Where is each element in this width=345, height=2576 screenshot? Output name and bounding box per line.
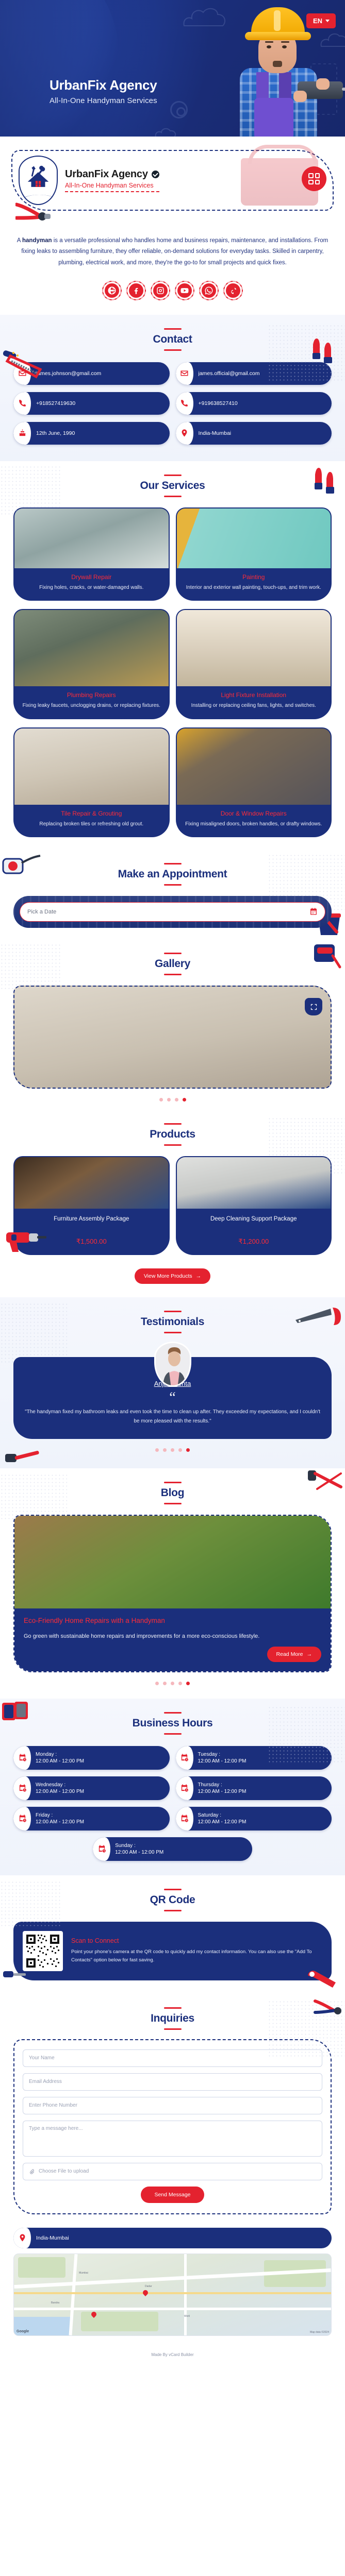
business-hours-row-friday: Friday : 12:00 AM - 12:00 PM <box>13 1807 170 1831</box>
business-hours-time: 12:00 AM - 12:00 PM <box>198 1789 247 1794</box>
date-placeholder: Pick a Date <box>27 909 56 915</box>
paperclip-icon <box>29 2168 35 2175</box>
blog-post-image <box>14 1516 331 1608</box>
about-text: is a versatile professional who handles … <box>21 238 328 266</box>
business-hours-day: Sunday : <box>115 1843 163 1849</box>
title-rule-top <box>164 474 182 476</box>
dot-grid-decoration <box>268 1706 345 1762</box>
birthday-cake-icon <box>13 422 31 445</box>
file-placeholder: Choose File to upload <box>39 2168 89 2174</box>
about-lead: A <box>17 238 22 244</box>
service-image-light-fixture <box>177 610 331 686</box>
map-embed[interactable]: Mumbai Dadar Bandra Worli Google Map dat… <box>13 2253 332 2336</box>
carousel-dot[interactable] <box>178 1448 182 1452</box>
company-name-block: UrbanFix Agency All-In-One Handyman Serv… <box>65 168 159 192</box>
work-gloves-decoration <box>309 335 341 367</box>
title-rule-bottom <box>164 2028 182 2030</box>
map-location-pill[interactable]: India-Mumbai <box>13 2228 332 2248</box>
title-rule-bottom <box>164 884 182 886</box>
carousel-dot[interactable] <box>171 1682 174 1685</box>
title-rule-top <box>164 1482 182 1483</box>
title-rule-top <box>164 863 182 865</box>
service-desc: Interior and exterior wall painting, tou… <box>182 584 326 592</box>
business-hours-day: Friday : <box>36 1812 84 1818</box>
service-title: Plumbing Repairs <box>20 691 163 699</box>
phone-placeholder: Enter Phone Number <box>29 2103 77 2108</box>
carousel-dot[interactable] <box>171 1448 174 1452</box>
products-grid: Furniture Assembly Package ₹1,500.00 Dee… <box>0 1146 345 1258</box>
service-card[interactable]: Painting Interior and exterior wall pain… <box>176 507 332 601</box>
social-link-facebook[interactable] <box>126 281 146 300</box>
appointment-date-input[interactable]: Pick a Date <box>20 902 325 922</box>
carousel-dot[interactable] <box>175 1098 178 1101</box>
service-card[interactable]: Drywall Repair Fixing holes, cracks, or … <box>13 507 170 601</box>
business-hours-day: Tuesday : <box>198 1752 247 1757</box>
file-upload-input[interactable]: Choose File to upload <box>23 2163 322 2180</box>
contact-item-birthday[interactable]: 12th June, 1990 <box>13 422 170 445</box>
appointment-date-wrapper: Pick a Date <box>13 896 332 928</box>
gallery-image-card[interactable] <box>13 986 332 1089</box>
arrow-right-icon: → <box>307 1651 313 1657</box>
wrench-decoration <box>305 1966 343 1990</box>
website-icon <box>107 286 117 295</box>
email-input[interactable]: Email Address <box>23 2073 322 2091</box>
title-rule-bottom <box>164 974 182 975</box>
service-title: Painting <box>182 573 326 581</box>
business-hours-section: Business Hours Monday : 12:00 AM - 12:00… <box>0 1699 345 1875</box>
service-card[interactable]: Plumbing Repairs Fixing leaky faucets, u… <box>13 609 170 719</box>
social-link-tiktok[interactable] <box>223 281 243 300</box>
calendar-clock-icon <box>176 1746 193 1770</box>
service-image-drywall <box>14 509 169 568</box>
pliers-decoration <box>313 1998 344 2021</box>
title-rule-top <box>164 953 182 954</box>
business-hours-time: 12:00 AM - 12:00 PM <box>198 1819 247 1825</box>
language-label: EN <box>313 17 322 25</box>
hero-gradient-overlay <box>0 0 345 137</box>
map-label: Dadar <box>145 2285 152 2288</box>
business-hours-day: Wednesday : <box>36 1782 84 1788</box>
calendar-clock-icon <box>13 1746 31 1770</box>
business-hours-time: 12:00 AM - 12:00 PM <box>198 1758 247 1764</box>
pliers-decoration <box>15 202 52 227</box>
testimonial-text: "The handyman fixed my bathroom leaks an… <box>25 1408 320 1426</box>
contact-value: +919638527410 <box>199 400 238 406</box>
business-hours-time: 12:00 AM - 12:00 PM <box>115 1850 163 1855</box>
title-rule-top <box>164 1123 182 1125</box>
service-card[interactable]: Light Fixture Installation Installing or… <box>176 609 332 719</box>
qr-code-section: QR Code <box>0 1875 345 1994</box>
product-image-furniture <box>14 1157 169 1209</box>
business-hours-row-saturday: Saturday : 12:00 AM - 12:00 PM <box>176 1807 332 1831</box>
about-bold-word: handyman <box>22 238 52 244</box>
profile-card: UrbanFix Agency All-In-One Handyman Serv… <box>11 150 334 211</box>
business-hours-row-sunday: Sunday : 12:00 AM - 12:00 PM <box>93 1837 252 1861</box>
instagram-icon <box>156 286 165 295</box>
hero-subtitle: All-In-One Handyman Services <box>50 96 157 105</box>
contact-item-location[interactable]: India-Mumbai <box>176 422 332 445</box>
company-logo <box>19 156 58 205</box>
business-hours-row-thursday: Thursday : 12:00 AM - 12:00 PM <box>176 1776 332 1800</box>
carousel-dot[interactable] <box>167 1098 171 1101</box>
blog-carousel-dots[interactable] <box>0 1672 345 1688</box>
carousel-dot[interactable] <box>178 1682 182 1685</box>
map-location-label: India-Mumbai <box>36 2235 69 2241</box>
blog-post-card[interactable]: Eco-Friendly Home Repairs with a Handyma… <box>13 1515 332 1672</box>
carousel-dot-active[interactable] <box>183 1098 186 1101</box>
inquiries-section: Inquiries Your Name Email Address Enter … <box>0 1994 345 2228</box>
footer-credit: Made By vCard Builder <box>0 2345 345 2366</box>
gallery-section: Gallery <box>0 939 345 1110</box>
send-message-button[interactable]: Send Message <box>141 2187 204 2203</box>
map-attribution: Map data ©2024 <box>310 2331 329 2334</box>
map-label: Mumbai <box>79 2272 88 2275</box>
map-label: Bandra <box>51 2301 59 2304</box>
email-icon <box>176 362 193 385</box>
service-title: Tile Repair & Grouting <box>20 810 163 817</box>
calendar-clock-icon <box>176 1807 193 1831</box>
phone-icon <box>176 392 193 415</box>
verified-badge-icon <box>152 171 159 178</box>
read-more-button[interactable]: Read More → <box>267 1647 321 1662</box>
service-desc: Fixing misaligned doors, broken handles,… <box>182 820 326 828</box>
phone-input[interactable]: Enter Phone Number <box>23 2097 322 2114</box>
service-image-tile <box>14 728 169 805</box>
read-more-label: Read More <box>276 1651 303 1657</box>
service-title: Light Fixture Installation <box>182 691 326 699</box>
product-image-cleaning <box>177 1157 331 1209</box>
title-rule-top <box>164 328 182 330</box>
message-placeholder: Type a message here... <box>29 2126 83 2131</box>
calendar-icon[interactable] <box>309 907 318 917</box>
paint-roller-decoration <box>310 941 342 973</box>
testimonial-slide: Anjali Mehta “ "The handyman fixed my ba… <box>0 1333 345 1439</box>
title-rule-top <box>164 2007 182 2009</box>
service-image-door-window <box>177 728 331 805</box>
social-link-whatsapp[interactable] <box>199 281 219 300</box>
map-label: Worli <box>184 2315 190 2318</box>
service-card[interactable]: Tile Repair & Grouting Replacing broken … <box>13 727 170 838</box>
social-links-row <box>0 278 345 315</box>
gloves-decoration <box>310 464 343 500</box>
qr-description: Point your phone's camera at the QR code… <box>71 1948 322 1964</box>
calendar-clock-icon <box>176 1776 193 1800</box>
business-hours-row-monday: Monday : 12:00 AM - 12:00 PM <box>13 1746 170 1770</box>
whatsapp-icon <box>204 286 213 295</box>
tiktok-icon <box>228 286 238 295</box>
screwdriver-decoration <box>2 1964 29 1985</box>
contact-item-phone-1[interactable]: +918527419630 <box>13 392 170 415</box>
calendar-clock-icon <box>13 1776 31 1800</box>
service-desc: Fixing leaky faucets, unclogging drains,… <box>20 702 163 710</box>
product-card[interactable]: Deep Cleaning Support Package ₹1,200.00 <box>176 1156 332 1255</box>
qr-code-fab-button[interactable] <box>302 166 326 191</box>
carousel-dot-active[interactable] <box>186 1448 190 1452</box>
gallery-carousel-dots[interactable] <box>0 1089 345 1105</box>
title-rule-bottom <box>164 1503 182 1504</box>
title-rule-bottom <box>164 1910 182 1911</box>
title-rule-top <box>164 1889 182 1890</box>
testimonials-carousel-dots[interactable] <box>0 1439 345 1455</box>
hammer-decoration <box>2 1448 41 1468</box>
services-section: Our Services Drywall Repair Fixing holes… <box>0 461 345 850</box>
hero-title: UrbanFix Agency <box>50 77 157 93</box>
qr-heading: Scan to Connect <box>71 1937 322 1944</box>
qr-code-graphic <box>25 1934 60 1969</box>
contact-value: +918527419630 <box>36 400 75 406</box>
contact-section: Contact james.johnson@gmail.com james.of… <box>0 315 345 461</box>
service-desc: Fixing holes, cracks, or water-damaged w… <box>20 584 163 592</box>
dot-grid-decoration <box>0 943 62 990</box>
hero-banner: UrbanFix Agency All-In-One Handyman Serv… <box>0 0 345 137</box>
calendar-clock-icon <box>93 1837 110 1861</box>
company-title: UrbanFix Agency <box>65 168 148 180</box>
hammer-decoration <box>307 1469 343 1492</box>
business-hours-day: Monday : <box>36 1752 84 1757</box>
carousel-dot-active[interactable] <box>186 1682 190 1685</box>
title-rule-top <box>164 1311 182 1312</box>
contact-item-phone-2[interactable]: +919638527410 <box>176 392 332 415</box>
company-tagline: All-In-One Handyman Services <box>65 182 159 192</box>
service-image-plumbing <box>14 610 169 686</box>
hero-text-block: UrbanFix Agency All-In-One Handyman Serv… <box>50 77 157 105</box>
chevron-down-icon <box>325 20 330 22</box>
view-more-label: View More Products <box>144 1273 192 1279</box>
business-hours-day: Thursday : <box>198 1782 247 1788</box>
service-title: Door & Window Repairs <box>182 810 326 817</box>
business-hours-row-wednesday: Wednesday : 12:00 AM - 12:00 PM <box>13 1776 170 1800</box>
business-hours-time: 12:00 AM - 12:00 PM <box>36 1758 84 1764</box>
arrow-right-icon: → <box>196 1273 202 1279</box>
appointment-section: Make an Appointment Pick a Date <box>0 850 345 939</box>
business-hours-time: 12:00 AM - 12:00 PM <box>36 1789 84 1794</box>
service-card[interactable]: Door & Window Repairs Fixing misaligned … <box>176 727 332 838</box>
google-logo: Google <box>17 2330 29 2333</box>
blog-section: Blog Eco-Friendly Home Repairs with a Ha… <box>0 1468 345 1699</box>
vcard-page: UrbanFix Agency All-In-One Handyman Serv… <box>0 0 345 2366</box>
business-hours-day: Saturday : <box>198 1812 247 1818</box>
drill-decoration <box>3 1228 47 1254</box>
tape-measure-decoration <box>2 852 41 876</box>
toolbox-decoration <box>1 1701 35 1724</box>
social-link-instagram[interactable] <box>151 281 170 300</box>
carousel-dot[interactable] <box>163 1682 167 1685</box>
about-description: A handyman is a versatile professional w… <box>0 215 345 278</box>
expand-icon <box>310 1003 318 1011</box>
carousel-dot[interactable] <box>155 1682 159 1685</box>
house-tools-logo-icon <box>24 164 52 192</box>
inquiry-form: Your Name Email Address Enter Phone Numb… <box>13 2039 332 2214</box>
dot-grid-decoration <box>0 1880 62 1927</box>
name-placeholder: Your Name <box>29 2055 55 2061</box>
carousel-dot[interactable] <box>159 1098 163 1101</box>
contact-value: 12th June, 1990 <box>36 430 75 436</box>
profile-card-section: UrbanFix Agency All-In-One Handyman Serv… <box>0 137 345 215</box>
services-grid: Drywall Repair Fixing holes, cracks, or … <box>0 497 345 841</box>
message-textarea[interactable]: Type a message here... <box>23 2121 322 2157</box>
product-price: ₹1,200.00 <box>182 1238 326 1246</box>
product-name: Deep Cleaning Support Package <box>182 1215 326 1231</box>
view-more-products-button[interactable]: View More Products → <box>135 1268 210 1284</box>
contact-value: james.official@gmail.com <box>199 370 260 377</box>
service-desc: Replacing broken tiles or refreshing old… <box>20 820 163 828</box>
handsaw-decoration <box>3 348 48 380</box>
title-rule-top <box>164 1712 182 1714</box>
language-selector-button[interactable]: EN <box>306 13 336 28</box>
service-desc: Installing or replacing ceiling fans, li… <box>182 702 326 710</box>
gallery-expand-button[interactable] <box>305 998 322 1015</box>
contact-value: India-Mumbai <box>199 430 232 436</box>
testimonials-section: Testimonials Anjali Mehta “ "The handyma… <box>0 1297 345 1468</box>
service-image-painting <box>177 509 331 568</box>
location-pin-icon <box>176 422 193 445</box>
products-section: Products Furniture Assembly Package ₹1,5… <box>0 1110 345 1297</box>
calendar-clock-icon <box>13 1807 31 1831</box>
business-hours-time: 12:00 AM - 12:00 PM <box>36 1819 84 1825</box>
service-title: Drywall Repair <box>20 573 163 581</box>
social-link-youtube[interactable] <box>175 281 194 300</box>
carousel-dot[interactable] <box>163 1448 167 1452</box>
blog-post-title: Eco-Friendly Home Repairs with a Handyma… <box>24 1617 321 1624</box>
facebook-icon <box>132 286 141 295</box>
dot-grid-decoration <box>0 1473 67 1520</box>
phone-icon <box>13 392 31 415</box>
quote-mark-icon: “ <box>25 1394 320 1402</box>
qr-card: Scan to Connect Point your phone's camer… <box>13 1922 332 1980</box>
handsaw-decoration <box>294 1306 344 1328</box>
blog-post-desc: Go green with sustainable home repairs a… <box>24 1632 321 1641</box>
social-link-website[interactable] <box>102 281 122 300</box>
email-placeholder: Email Address <box>29 2079 62 2084</box>
youtube-icon <box>180 286 189 295</box>
location-pin-icon <box>13 2228 31 2248</box>
carousel-dot[interactable] <box>155 1448 159 1452</box>
qr-grid-icon <box>308 173 320 184</box>
map-section: India-Mumbai Mumbai Dadar Bandra Worli G… <box>0 2228 345 2345</box>
